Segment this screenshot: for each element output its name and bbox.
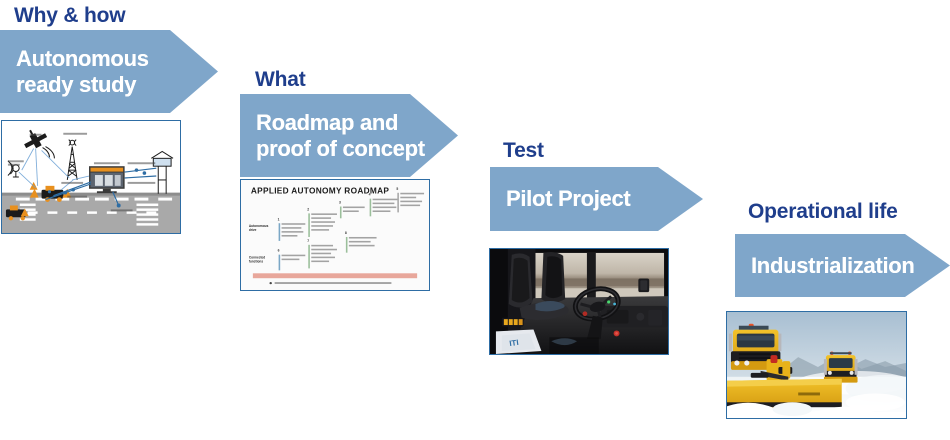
stage-arrow-industrialization[interactable]: Industrialization (735, 234, 950, 297)
svg-text:1: 1 (278, 217, 280, 221)
svg-text:8: 8 (345, 231, 347, 235)
svg-text:5: 5 (396, 187, 398, 191)
svg-text:drive: drive (249, 228, 257, 232)
stage-arrow-roadmap-and-proof-of-concept[interactable]: Roadmap and proof of concept (240, 94, 458, 177)
stage-heading-why-and-how: Why & how (14, 4, 125, 28)
image-connectivity-architecture-diagram (1, 120, 181, 234)
stage-arrow-label: Pilot Project (506, 186, 630, 212)
roadmap-chart-svg: APPLIED AUTONOMY ROADMAP Autonomous driv… (241, 180, 429, 290)
stage-heading-test: Test (503, 139, 544, 163)
connectivity-diagram-svg (2, 121, 180, 233)
stage-arrow-label: Autonomous ready study (16, 46, 149, 98)
image-applied-autonomy-roadmap-chart: APPLIED AUTONOMY ROADMAP Autonomous driv… (240, 179, 430, 291)
svg-text:2: 2 (307, 207, 309, 211)
stage-arrow-pilot-project[interactable]: Pilot Project (490, 167, 703, 231)
stage-arrow-label: Roadmap and proof of concept (256, 110, 425, 162)
stage-heading-operational-life: Operational life (748, 200, 898, 224)
stage-arrow-label: Industrialization (751, 253, 915, 279)
svg-text:3: 3 (339, 201, 341, 205)
snowplow-svg (727, 312, 906, 418)
truck-cab-svg: ITI (490, 249, 668, 354)
image-snowplow-trucks-photo (726, 311, 907, 419)
svg-text:ITI: ITI (509, 338, 519, 348)
svg-text:7: 7 (307, 239, 309, 243)
image-truck-cab-interior-photo: ITI (489, 248, 669, 355)
stage-heading-what: What (255, 68, 306, 92)
svg-text:4: 4 (369, 193, 371, 197)
svg-text:functions: functions (249, 260, 263, 264)
stage-arrow-autonomous-ready-study[interactable]: Autonomous ready study (0, 30, 218, 113)
svg-text:6: 6 (278, 249, 280, 253)
